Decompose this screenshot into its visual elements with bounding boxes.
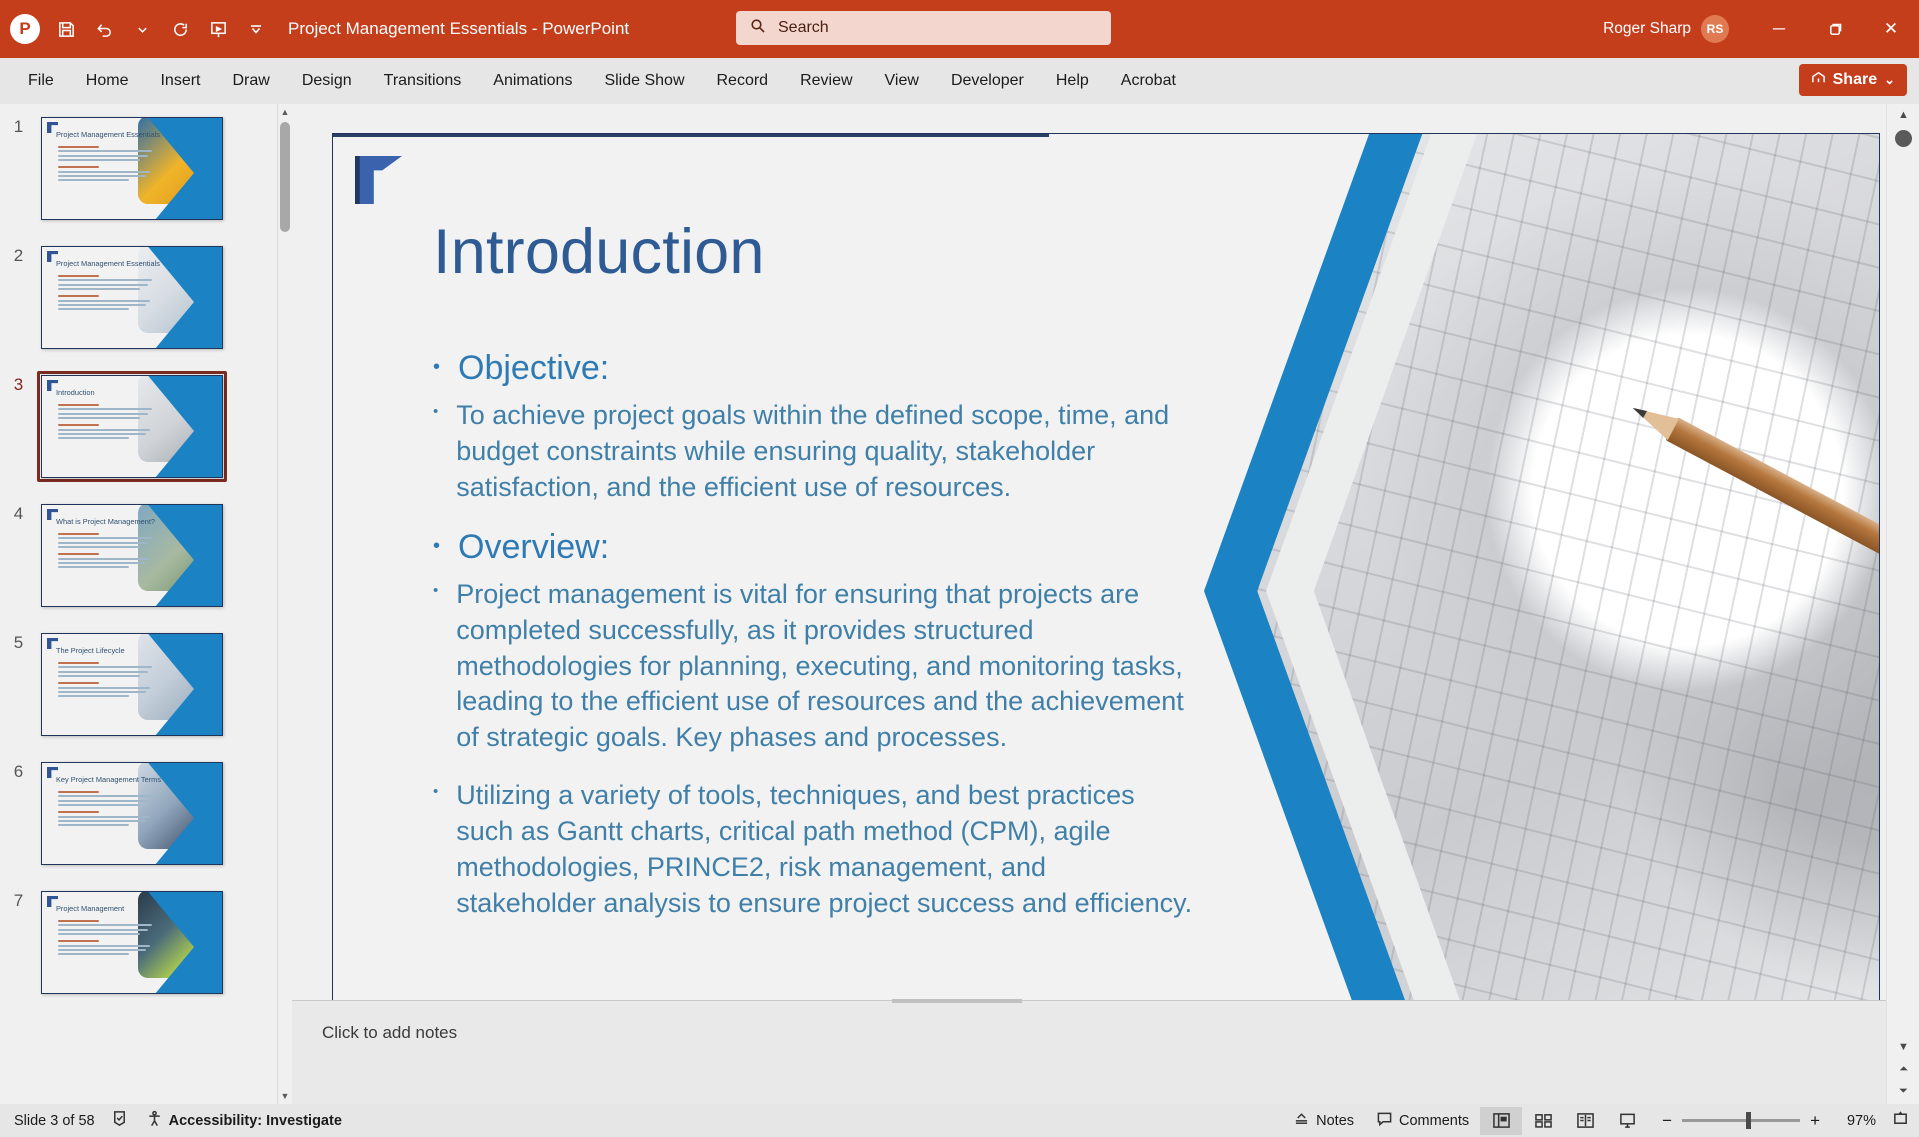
current-slide-canvas[interactable]: Introduction •Objective:•To achieve proj… (332, 133, 1880, 1006)
accessibility-icon (146, 1110, 163, 1131)
slide-bullet-text: Utilizing a variety of tools, techniques… (456, 778, 1193, 922)
slide-thumbnail-list: 1Project Management Essentials2Project M… (0, 104, 277, 1104)
bullet-glyph-icon: • (433, 357, 440, 377)
thumbnail-body-lines (58, 662, 160, 700)
zoom-out-button[interactable]: − (1662, 1111, 1672, 1131)
thumbnail-body-lines (58, 146, 160, 184)
slide-thumbnail-title: Introduction (56, 388, 162, 397)
share-button[interactable]: Share ⌄ (1799, 64, 1907, 96)
bullet-glyph-icon: • (433, 778, 438, 807)
slide-thumbnail-preview[interactable]: Key Project Management Terms (41, 762, 223, 865)
tab-design[interactable]: Design (288, 64, 366, 98)
status-bar-right: Notes Comments − + 97% (1282, 1107, 1909, 1135)
slide-thumbnail-preview[interactable]: The Project Lifecycle (41, 633, 223, 736)
slide-thumbnail-title: Project Management Essentials (56, 130, 162, 139)
slide-sorter-view-button[interactable] (1522, 1107, 1564, 1135)
tab-acrobat[interactable]: Acrobat (1107, 64, 1190, 98)
slide-thumbnail-item-4[interactable]: 4What is Project Management? (0, 491, 277, 620)
zoom-in-button[interactable]: + (1810, 1111, 1820, 1131)
share-icon (1811, 70, 1826, 90)
stage-scroll-down-icon[interactable]: ▼ (1887, 1036, 1919, 1058)
search-placeholder: Search (778, 19, 829, 37)
slide-thumbnail-number: 5 (0, 629, 37, 653)
slide-thumbnail-frame[interactable]: Project Management Essentials (37, 242, 227, 353)
slide-thumbnail-frame[interactable]: Project Management Essentials (37, 113, 227, 224)
slide-thumbnail-preview[interactable]: Project Management Essentials (41, 246, 223, 349)
slide-thumbnail-frame[interactable]: What is Project Management? (37, 500, 227, 611)
stage-vertical-scrollbar[interactable]: ▲ ▼ ⏶ ⏷ (1886, 104, 1919, 1104)
slide-editing-stage: Introduction •Objective:•To achieve proj… (292, 104, 1886, 1104)
normal-view-button[interactable] (1480, 1107, 1522, 1135)
thumbnail-body-lines (58, 533, 160, 571)
tab-help[interactable]: Help (1042, 64, 1103, 98)
slide-thumbnail-frame[interactable]: Project Management (37, 887, 227, 998)
slide-thumbnail-item-2[interactable]: 2Project Management Essentials (0, 233, 277, 362)
next-slide-button[interactable]: ⏷ (1887, 1080, 1919, 1102)
tab-home[interactable]: Home (72, 64, 143, 98)
document-title-text: Project Management Essentials (288, 19, 527, 38)
slide-bullet-text: To achieve project goals within the defi… (456, 398, 1193, 506)
slide-thumbnail-title: Key Project Management Terms (56, 775, 162, 784)
thumbnail-body-lines (58, 920, 160, 958)
slide-thumbnail-title: Project Management Essentials (56, 259, 162, 268)
slide-thumbnail-number: 7 (0, 887, 37, 911)
notes-icon (1293, 1111, 1310, 1130)
notes-toggle-button[interactable]: Notes (1282, 1107, 1365, 1135)
slide-thumbnail-item-1[interactable]: 1Project Management Essentials (0, 104, 277, 233)
search-input[interactable]: Search (736, 11, 1111, 45)
tab-transitions[interactable]: Transitions (370, 64, 476, 98)
tab-slide-show[interactable]: Slide Show (590, 64, 698, 98)
stage-scrollbar-thumb[interactable] (1895, 130, 1912, 147)
reading-view-button[interactable] (1564, 1107, 1606, 1135)
slide-thumbnail-title: Project Management (56, 904, 162, 913)
stage-scroll-up-icon[interactable]: ▲ (1887, 104, 1919, 126)
notes-placeholder[interactable]: Click to add notes (322, 1023, 457, 1043)
slide-thumbnail-title: The Project Lifecycle (56, 646, 162, 655)
thumbnail-body-lines (58, 791, 160, 829)
slide-bullet-item: •To achieve project goals within the def… (433, 398, 1193, 506)
tab-file[interactable]: File (14, 64, 68, 98)
tab-insert[interactable]: Insert (146, 64, 214, 98)
scroll-down-icon[interactable]: ▼ (278, 1088, 292, 1104)
tab-developer[interactable]: Developer (937, 64, 1038, 98)
slide-body-placeholder[interactable]: •Objective:•To achieve project goals wit… (433, 349, 1193, 944)
selection-handle-top[interactable] (333, 133, 1049, 137)
undo-icon[interactable] (86, 11, 122, 47)
slide-thumbnail-preview[interactable]: What is Project Management? (41, 504, 223, 607)
status-bar: Slide 3 of 58 Accessibility: Investigate… (0, 1104, 1919, 1137)
accessibility-status[interactable]: Accessibility: Investigate (144, 1107, 353, 1135)
slide-thumbnail-number: 2 (0, 242, 37, 266)
save-icon[interactable] (48, 11, 84, 47)
slide-decorative-graphic (1204, 133, 1880, 1006)
tab-animations[interactable]: Animations (479, 64, 586, 98)
fit-to-window-icon[interactable] (1886, 1110, 1909, 1131)
slide-bullet-item: •Utilizing a variety of tools, technique… (433, 778, 1193, 922)
title-separator: - (532, 19, 538, 38)
zoom-control[interactable]: − + 97% (1648, 1110, 1909, 1131)
slide-title[interactable]: Introduction (433, 216, 765, 288)
quick-access-toolbar: P (0, 11, 274, 47)
slide-thumbnail-preview[interactable]: Project Management Essentials (41, 117, 223, 220)
notes-label: Notes (1316, 1113, 1354, 1129)
powerpoint-logo-icon: P (10, 14, 40, 44)
share-label: Share (1833, 71, 1877, 89)
slide-show-button[interactable] (1606, 1107, 1648, 1135)
comment-icon (1376, 1111, 1393, 1130)
slide-thumbnail-frame[interactable]: Key Project Management Terms (37, 758, 227, 869)
redo-icon[interactable] (162, 11, 198, 47)
notes-pane[interactable]: Click to add notes (292, 1000, 1886, 1104)
comments-label: Comments (1399, 1113, 1469, 1129)
slide-thumbnail-number: 6 (0, 758, 37, 782)
accessibility-label: Accessibility: Investigate (169, 1113, 342, 1129)
bullet-glyph-icon: • (433, 398, 438, 427)
user-name[interactable]: Roger Sharp (1603, 20, 1691, 38)
notes-resize-grip[interactable] (892, 999, 1022, 1003)
slide-bullet-item: •Project management is vital for ensurin… (433, 577, 1193, 757)
slide-corner-logo-icon (355, 156, 402, 204)
previous-slide-button[interactable]: ⏶ (1887, 1058, 1919, 1080)
tab-draw[interactable]: Draw (218, 64, 283, 98)
thumbnail-body-lines (58, 275, 160, 313)
slide-bullet-text: Project management is vital for ensuring… (456, 577, 1193, 757)
zoom-slider-thumb[interactable] (1746, 1112, 1751, 1129)
app-name: PowerPoint (542, 19, 629, 38)
zoom-slider[interactable] (1682, 1119, 1800, 1122)
slide-thumbnail-frame[interactable]: The Project Lifecycle (37, 629, 227, 740)
ribbon-tab-bar: File Home Insert Draw Design Transitions… (0, 58, 1919, 104)
slide-bullet-heading: •Overview: (433, 528, 1193, 567)
start-presentation-icon[interactable] (200, 11, 236, 47)
slide-thumbnail-title: What is Project Management? (56, 517, 162, 526)
document-title: Project Management Essentials - PowerPoi… (288, 19, 629, 39)
slide-thumbnail-number: 1 (0, 113, 37, 137)
customize-qat-icon[interactable] (238, 11, 274, 47)
slide-thumbnail-number: 4 (0, 500, 37, 524)
slide-thumbnail-preview[interactable]: Project Management (41, 891, 223, 994)
slide-thumbnail-number: 3 (0, 371, 37, 395)
avatar[interactable]: RS (1701, 15, 1729, 43)
slide-thumbnail-panel[interactable]: 1Project Management Essentials2Project M… (0, 104, 291, 1104)
search-icon (750, 18, 766, 38)
slide-count-label[interactable]: Slide 3 of 58 (14, 1113, 95, 1129)
slide-panel-scrollbar[interactable]: ▲ ▼ (277, 104, 291, 1104)
scrollbar-thumb[interactable] (280, 122, 290, 232)
bullet-glyph-icon: • (433, 577, 438, 606)
slide-bullet-heading-text: Objective: (458, 349, 609, 388)
comments-toggle-button[interactable]: Comments (1365, 1107, 1480, 1135)
spell-check-icon[interactable] (111, 1110, 128, 1131)
bullet-glyph-icon: • (433, 536, 440, 556)
slide-thumbnail-item-6[interactable]: 6Key Project Management Terms (0, 749, 277, 878)
slide-thumbnail-item-3[interactable]: 3Introduction (0, 362, 277, 491)
tab-record[interactable]: Record (703, 64, 783, 98)
undo-dropdown-icon[interactable] (124, 11, 160, 47)
share-caret-icon: ⌄ (1884, 72, 1895, 88)
slide-bullet-heading-text: Overview: (458, 528, 609, 567)
scroll-up-icon[interactable]: ▲ (278, 104, 292, 120)
slide-thumbnail-item-7[interactable]: 7Project Management (0, 878, 277, 1007)
slide-bullet-heading: •Objective: (433, 349, 1193, 388)
slide-thumbnail-frame[interactable]: Introduction (37, 371, 227, 482)
slide-thumbnail-preview[interactable]: Introduction (41, 375, 223, 478)
zoom-level-label[interactable]: 97% (1830, 1113, 1876, 1129)
thumbnail-body-lines (58, 404, 160, 442)
status-bar-left: Slide 3 of 58 Accessibility: Investigate (0, 1107, 353, 1135)
slide-thumbnail-item-5[interactable]: 5The Project Lifecycle (0, 620, 277, 749)
tab-view[interactable]: View (871, 64, 933, 98)
tab-review[interactable]: Review (786, 64, 866, 98)
